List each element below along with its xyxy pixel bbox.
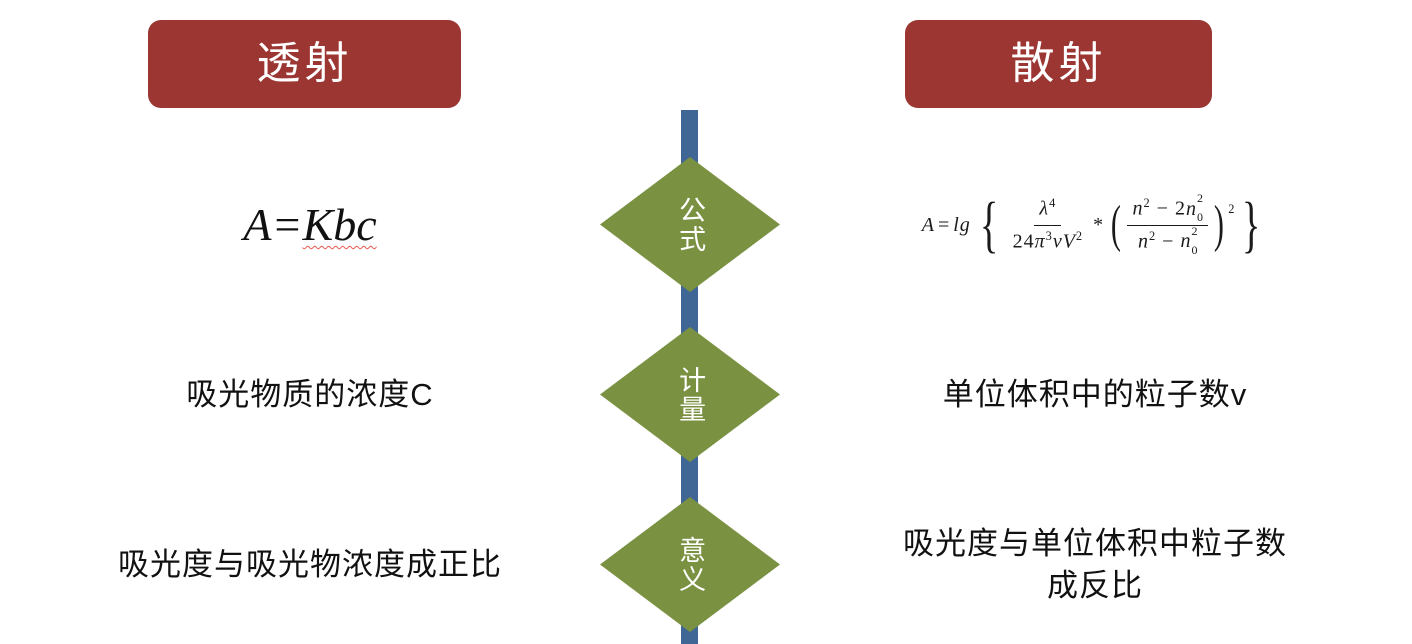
- formula-scattering: A = lg { λ4 24π3vV2 * ( n2 − 2n02 n2 − n…: [922, 195, 1268, 255]
- multiply-operator: *: [1090, 212, 1107, 239]
- diamond-node-formula-label: 公式: [675, 196, 705, 254]
- inner-fraction-denominator: n2 − n02: [1133, 226, 1202, 256]
- outer-fraction-numerator: λ4: [1034, 195, 1061, 226]
- formula-transmission: A=Kbc: [243, 194, 376, 256]
- slide-canvas: 透射 散射 公式 计量 意义 A=Kbc A = lg { λ4 24π3vV2…: [0, 0, 1412, 644]
- cell-left-meaning-label: 吸光度与吸光物浓度成正比: [118, 544, 502, 586]
- cell-right-formula: A = lg { λ4 24π3vV2 * ( n2 − 2n02 n2 − n…: [800, 160, 1390, 290]
- cell-left-measure-label: 吸光物质的浓度C: [186, 374, 433, 416]
- inner-fraction-numerator: n2 − 2n02: [1127, 195, 1207, 226]
- right-paren-glyph: ): [1214, 209, 1225, 241]
- outer-fraction: λ4 24π3vV2: [1008, 195, 1089, 255]
- inner-fraction: n2 − 2n02 n2 − n02: [1127, 195, 1207, 255]
- diamond-node-formula: 公式: [600, 157, 780, 292]
- cell-right-meaning-label: 吸光度与单位体积中粒子数 成反比: [903, 523, 1287, 607]
- inner-fraction-exponent: 2: [1228, 201, 1235, 218]
- formula-scattering-lhs: A: [922, 212, 935, 239]
- diamond-node-meaning: 意义: [600, 497, 780, 632]
- cell-right-meaning-line1: 吸光度与单位体积中粒子数: [903, 526, 1287, 561]
- cell-right-measure: 单位体积中的粒子数v: [800, 335, 1390, 455]
- formula-scattering-equals: =: [935, 212, 953, 239]
- left-paren-glyph: (: [1111, 209, 1122, 241]
- header-banner-left-label: 透射: [257, 42, 353, 86]
- right-brace-glyph: }: [1242, 206, 1261, 244]
- cell-left-formula: A=Kbc: [30, 160, 590, 290]
- left-brace-glyph: {: [980, 206, 999, 244]
- header-banner-right: 散射: [905, 20, 1212, 108]
- formula-transmission-lhs: A=: [243, 199, 302, 250]
- diamond-node-measure: 计量: [600, 327, 780, 462]
- header-banner-left: 透射: [148, 20, 461, 108]
- diamond-node-meaning-label: 意义: [675, 536, 705, 594]
- cell-right-meaning: 吸光度与单位体积中粒子数 成反比: [800, 495, 1390, 635]
- formula-transmission-rhs: Kbc: [303, 199, 377, 250]
- cell-right-measure-label: 单位体积中的粒子数v: [943, 374, 1248, 416]
- header-banner-right-label: 散射: [1011, 42, 1107, 86]
- cell-right-meaning-line2: 成反比: [1047, 568, 1143, 603]
- cell-left-measure: 吸光物质的浓度C: [30, 335, 590, 455]
- diamond-node-measure-label: 计量: [675, 366, 705, 424]
- outer-fraction-denominator: 24π3vV2: [1008, 226, 1089, 256]
- cell-left-meaning: 吸光度与吸光物浓度成正比: [30, 495, 590, 635]
- formula-scattering-log: lg: [953, 212, 973, 239]
